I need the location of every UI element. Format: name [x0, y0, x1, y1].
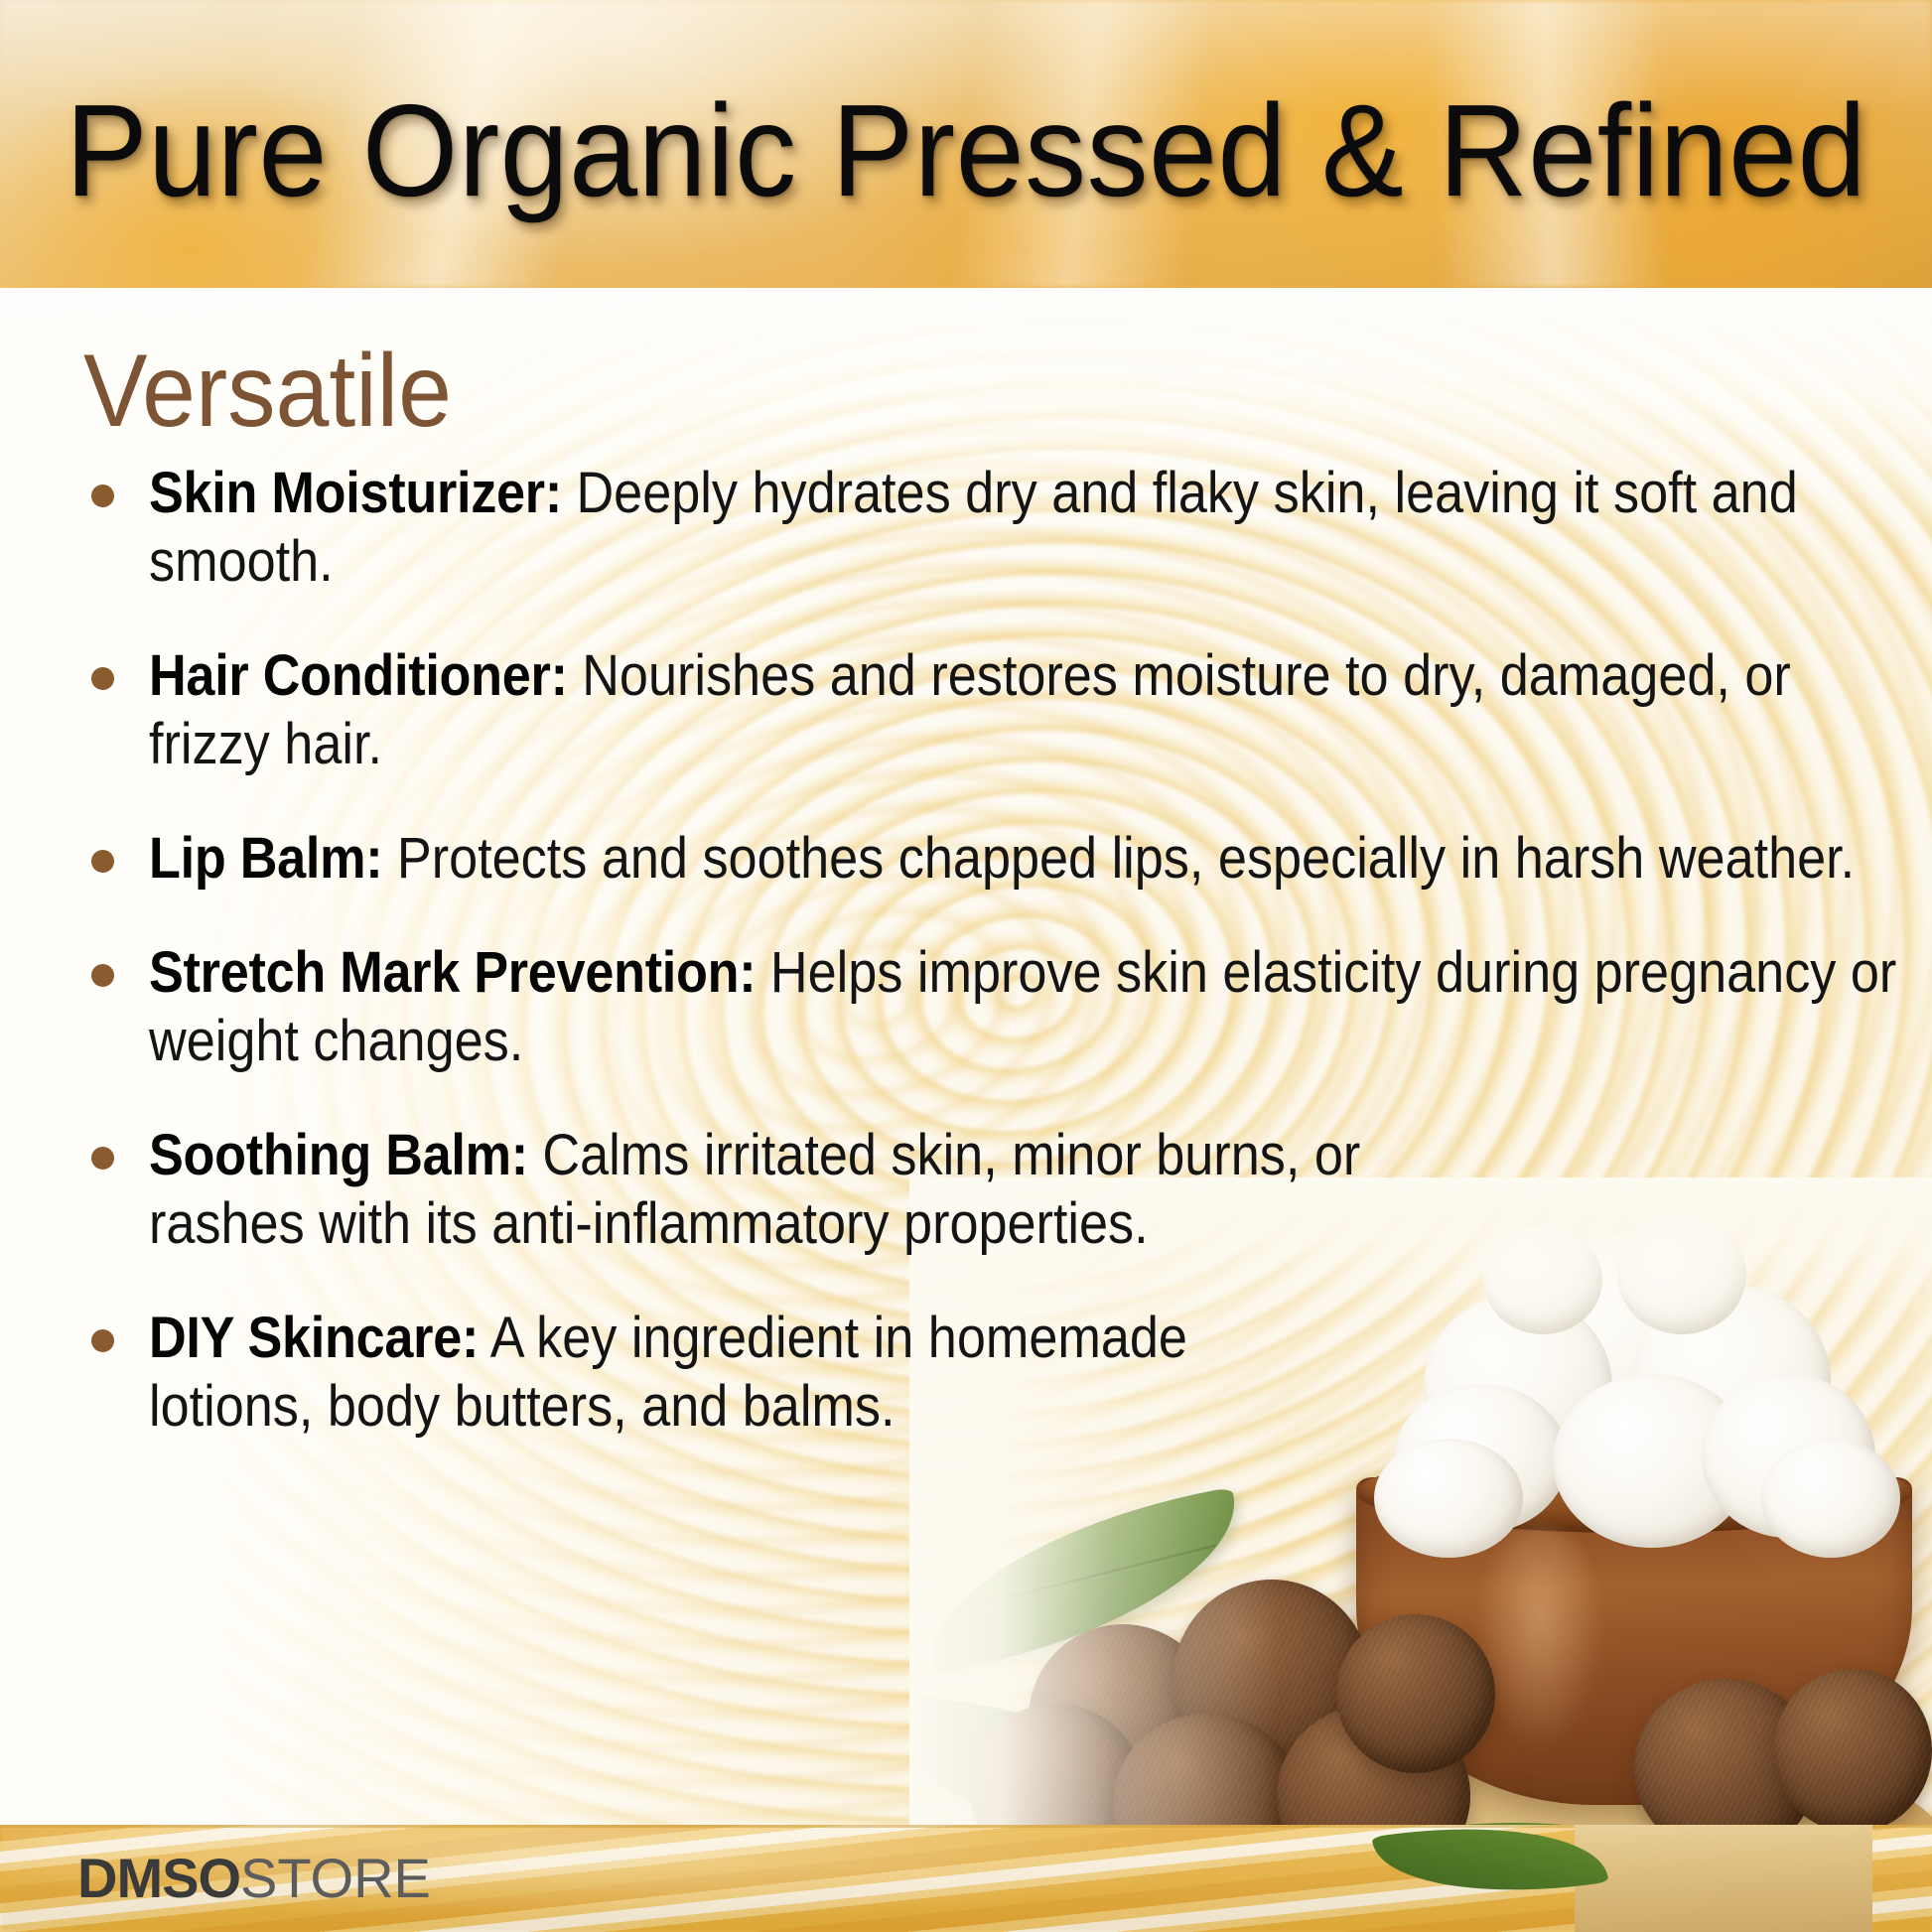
list-item: Soothing Balm: Calms irritated skin, min… [73, 1121, 1900, 1258]
list-item: Hair Conditioner: Nourishes and restores… [73, 641, 1900, 778]
product-infographic: Pure Organic Pressed & Refined [0, 0, 1932, 1932]
section-heading: Versatile [83, 340, 452, 443]
page-title: Pure Organic Pressed & Refined [58, 0, 1873, 288]
list-item-label: Skin Moisturizer: [149, 461, 562, 525]
list-item-text: DIY Skincare: A key ingredient in homema… [149, 1304, 1221, 1441]
bullet-dot-icon [91, 964, 114, 987]
list-item-label: Lip Balm: [149, 826, 382, 891]
footer-banner: DMSO STORE [0, 1825, 1932, 1932]
list-item: Stretch Mark Prevention: Helps improve s… [73, 938, 1900, 1075]
brand-logo-secondary: STORE [240, 1851, 431, 1906]
list-item-text: Lip Balm: Protects and soothes chapped l… [149, 824, 1898, 893]
footer-leaf-detail [1372, 1825, 1609, 1914]
list-item: Skin Moisturizer: Deeply hydrates dry an… [73, 459, 1900, 596]
list-item-text: Soothing Balm: Calms irritated skin, min… [149, 1121, 1488, 1258]
bullet-dot-icon [91, 484, 114, 507]
list-item-label: Soothing Balm: [149, 1123, 528, 1187]
list-item-label: Stretch Mark Prevention: [149, 940, 756, 1005]
bullet-dot-icon [91, 1329, 114, 1352]
list-item-text: Skin Moisturizer: Deeply hydrates dry an… [149, 459, 1898, 596]
list-item-label: DIY Skincare: [149, 1306, 479, 1370]
list-item: Lip Balm: Protects and soothes chapped l… [73, 824, 1900, 893]
content-area: Versatile Skin Moisturizer: Deeply hydra… [0, 288, 1932, 1825]
bullet-dot-icon [91, 1147, 114, 1170]
list-item: DIY Skincare: A key ingredient in homema… [73, 1304, 1900, 1441]
list-item-text: Stretch Mark Prevention: Helps improve s… [149, 938, 1898, 1075]
list-item-description: Protects and soothes chapped lips, espec… [397, 826, 1855, 891]
footer-tray-detail [1575, 1825, 1872, 1932]
header-banner: Pure Organic Pressed & Refined [0, 0, 1932, 288]
list-item-text: Hair Conditioner: Nourishes and restores… [149, 641, 1898, 778]
list-item-label: Hair Conditioner: [149, 643, 568, 708]
benefits-list: Skin Moisturizer: Deeply hydrates dry an… [73, 459, 1900, 1486]
bullet-dot-icon [91, 667, 114, 690]
brand-logo: DMSO STORE [77, 1851, 431, 1906]
brand-logo-primary: DMSO [77, 1851, 240, 1906]
bullet-dot-icon [91, 850, 114, 873]
